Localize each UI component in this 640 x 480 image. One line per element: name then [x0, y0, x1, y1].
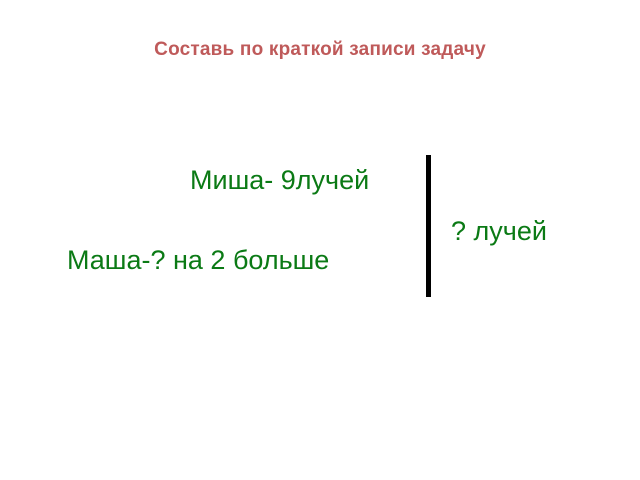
slide-canvas: Составь по краткой записи задачу Миша- 9…	[0, 0, 640, 480]
short-note-question-label: ? лучей	[451, 217, 547, 247]
short-note-line-misha: Миша- 9лучей	[190, 166, 369, 196]
short-note-line-masha: Маша-? на 2 больше	[67, 246, 329, 276]
vertical-brace-bar	[426, 155, 431, 297]
page-title: Составь по краткой записи задачу	[0, 39, 640, 61]
